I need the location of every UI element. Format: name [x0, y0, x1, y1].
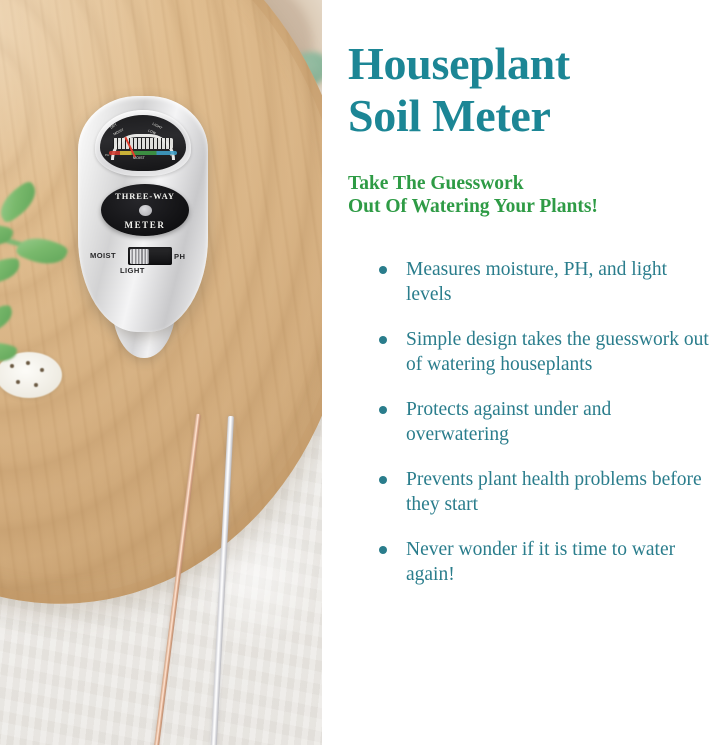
subtitle: Take The Guesswork Out Of Watering Your …	[348, 172, 708, 218]
bullet-dot-icon	[379, 266, 387, 274]
product-infographic: DRY MOIST LIGHT LOW MOIST PH PH THREE-WA…	[0, 0, 720, 745]
feature-list: Measures moisture, PH, and light levels …	[374, 258, 710, 608]
list-item: Measures moisture, PH, and light levels	[374, 258, 710, 307]
badge-center-dot	[139, 205, 152, 216]
gauge-label-moist-left: MOIST	[113, 128, 125, 137]
list-item: Simple design takes the guesswork out of…	[374, 328, 710, 377]
badge-top-text: THREE-WAY	[101, 191, 189, 201]
page-title: Houseplant Soil Meter	[348, 38, 708, 142]
gauge-ticks	[113, 138, 173, 149]
bullet-dot-icon	[379, 476, 387, 484]
switch-label-ph: PH	[174, 252, 185, 261]
title-line-2: Soil Meter	[348, 90, 708, 142]
subtitle-line-2: Out Of Watering Your Plants!	[348, 195, 708, 218]
switch-label-light: LIGHT	[120, 266, 145, 275]
list-item-label: Measures moisture, PH, and light levels	[406, 259, 667, 305]
bullet-dot-icon	[379, 406, 387, 414]
badge-bottom-text: METER	[101, 220, 189, 230]
list-item-label: Prevents plant health problems before th…	[406, 469, 702, 515]
mode-switch-track[interactable]	[128, 247, 172, 265]
bullet-dot-icon	[379, 546, 387, 554]
list-item: Prevents plant health problems before th…	[374, 468, 710, 517]
list-item: Protects against under and overwatering	[374, 398, 710, 447]
list-item-label: Never wonder if it is time to water agai…	[406, 539, 675, 585]
product-photo-panel: DRY MOIST LIGHT LOW MOIST PH PH THREE-WA…	[0, 0, 322, 745]
gauge-dial: DRY MOIST LIGHT LOW MOIST PH PH	[100, 115, 186, 171]
content-panel: Houseplant Soil Meter Take The Guesswork…	[322, 0, 720, 745]
gauge-color-scale	[109, 151, 177, 155]
mode-switch-knob[interactable]	[130, 249, 149, 264]
gauge-label-ph-right: PH	[170, 153, 174, 157]
gauge-label-light: LIGHT	[152, 122, 163, 130]
title-line-1: Houseplant	[348, 38, 708, 90]
gauge-label-ph-left: PH	[105, 153, 109, 157]
gauge-label-moist-center: MOIST	[133, 156, 145, 160]
subtitle-line-1: Take The Guesswork	[348, 172, 708, 195]
mode-switch-group: MOIST PH LIGHT	[88, 244, 200, 278]
soil-meter-device: DRY MOIST LIGHT LOW MOIST PH PH THREE-WA…	[78, 96, 208, 348]
list-item-label: Simple design takes the guesswork out of…	[406, 329, 709, 375]
list-item: Never wonder if it is time to water agai…	[374, 538, 710, 587]
plant-sprig	[0, 300, 40, 390]
three-way-meter-badge: THREE-WAY METER	[101, 184, 189, 236]
bullet-dot-icon	[379, 336, 387, 344]
meter-body: DRY MOIST LIGHT LOW MOIST PH PH THREE-WA…	[78, 96, 208, 332]
list-item-label: Protects against under and overwatering	[406, 399, 611, 445]
switch-label-moist: MOIST	[90, 251, 116, 260]
